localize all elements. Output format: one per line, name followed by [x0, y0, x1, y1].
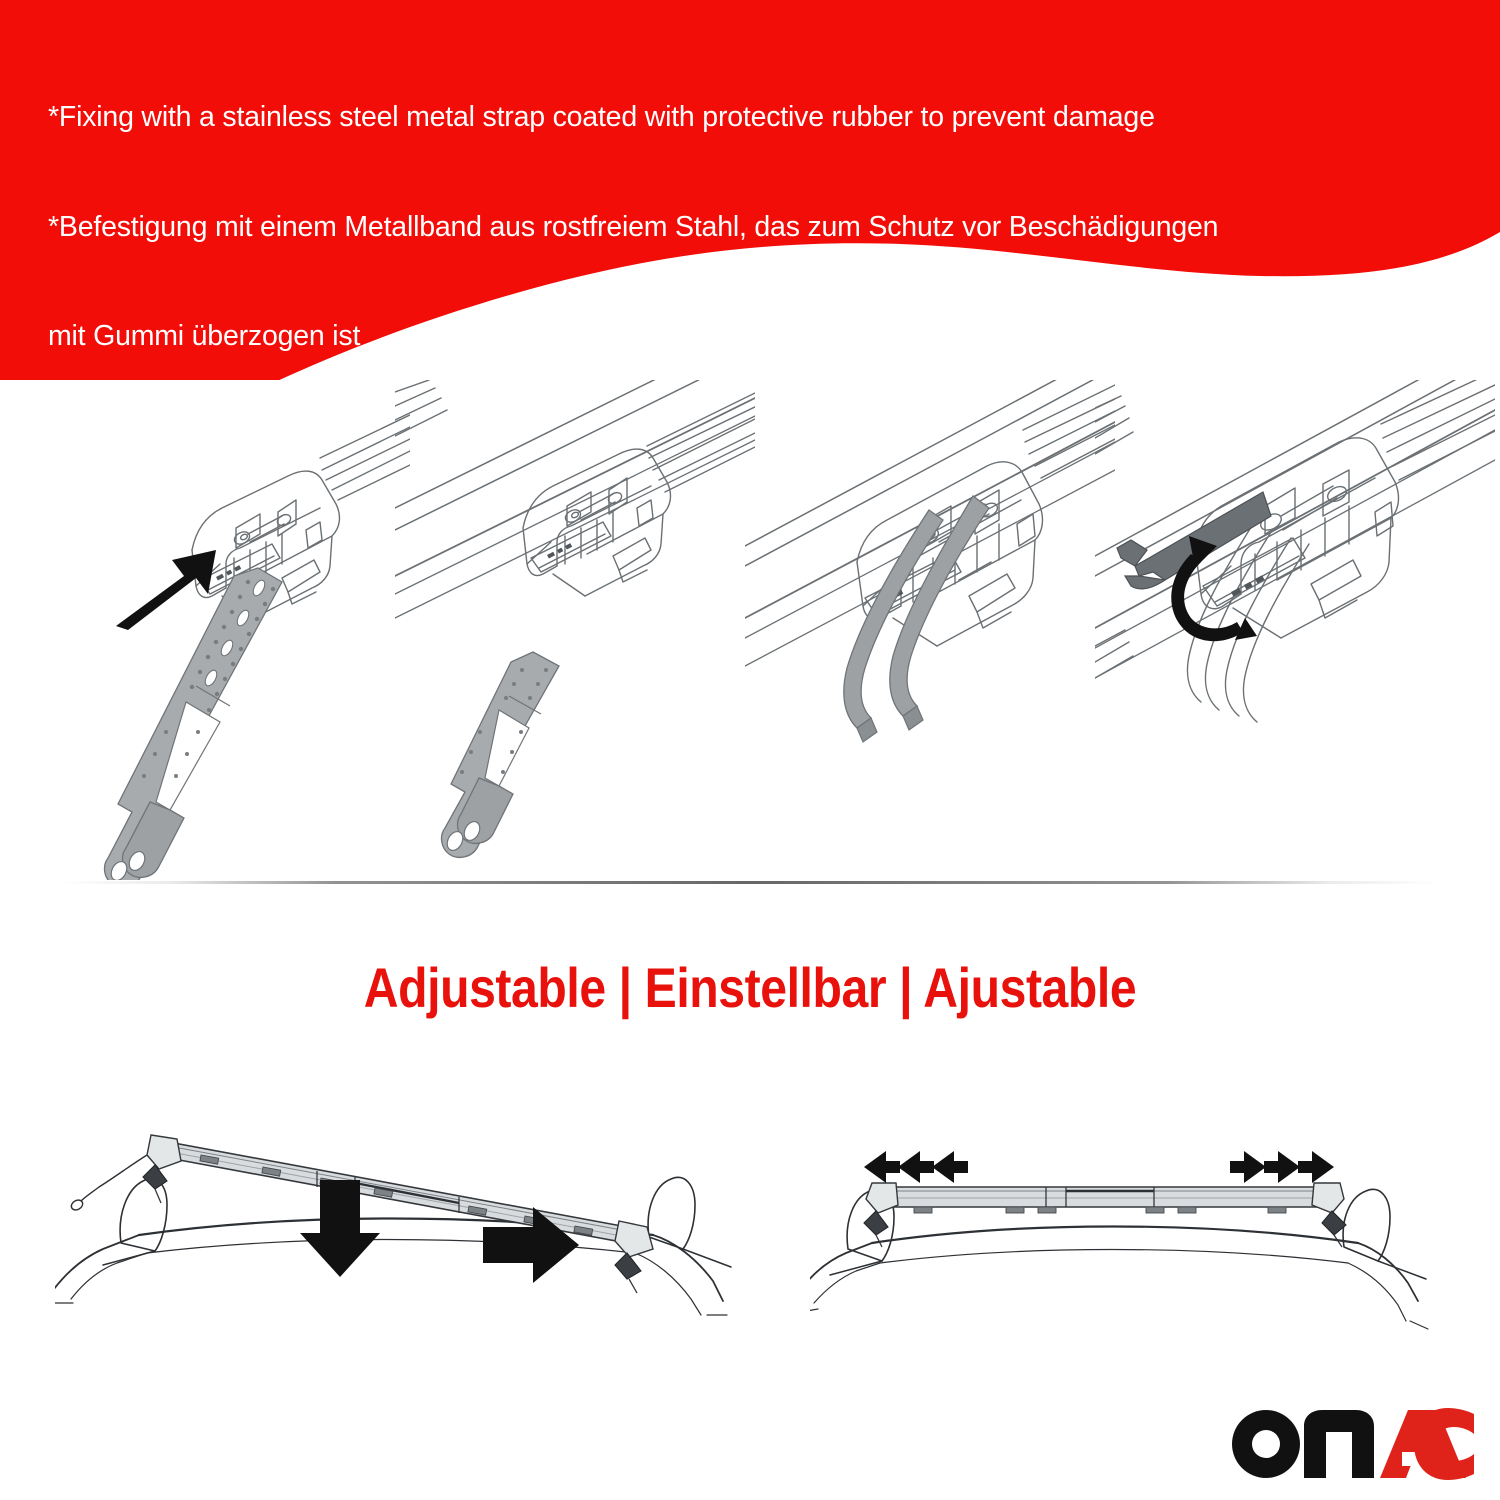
logo-letter-o	[1232, 1410, 1300, 1478]
adjustable-heading: Adjustable | Einstellbar | Ajustable	[105, 955, 1395, 1020]
diagram-tilt-illustration	[55, 1085, 755, 1375]
diagram-level-illustration	[810, 1125, 1450, 1375]
step-3-illustration	[745, 380, 1115, 880]
perforated-metal-strap	[442, 652, 559, 857]
step-1-illustration	[20, 380, 410, 880]
crossbar-tilted	[143, 1135, 653, 1293]
step-2-illustration	[395, 380, 755, 880]
header-banner: *Fixing with a stainless steel metal str…	[0, 0, 1500, 380]
step-2-position-foot	[395, 380, 755, 880]
step-4-illustration	[1095, 380, 1495, 880]
omac-logo	[1228, 1404, 1474, 1480]
perforated-metal-strap	[105, 568, 282, 880]
logo-letter-m	[1304, 1410, 1374, 1478]
wrapped-strap	[844, 496, 989, 742]
installation-steps	[0, 380, 1500, 880]
step-4-tighten-hex-key	[1095, 380, 1495, 880]
step-3-wrap-strap	[745, 380, 1115, 880]
diagram-crossbar-tilt-adjust	[55, 1085, 755, 1375]
banner-line-en: *Fixing with a stainless steel metal str…	[48, 99, 1468, 136]
infographic-page: *Fixing with a stainless steel metal str…	[0, 0, 1500, 1500]
lanyard	[70, 1155, 147, 1212]
insertion-arrow-icon	[116, 550, 216, 630]
banner-text-block: *Fixing with a stainless steel metal str…	[48, 26, 1468, 380]
section-divider	[60, 881, 1440, 884]
banner-line-de-1: *Befestigung mit einem Metallband aus ro…	[48, 209, 1468, 246]
step-1-insert-strap	[20, 380, 410, 880]
diagram-crossbar-width-adjust	[810, 1125, 1450, 1375]
banner-line-de-2: mit Gummi überzogen ist	[48, 318, 1468, 355]
crossbar-level	[864, 1183, 1346, 1247]
triple-right-arrow-icon	[1230, 1151, 1334, 1183]
triple-left-arrow-icon	[864, 1151, 968, 1183]
omac-logo-mark	[1228, 1404, 1474, 1480]
